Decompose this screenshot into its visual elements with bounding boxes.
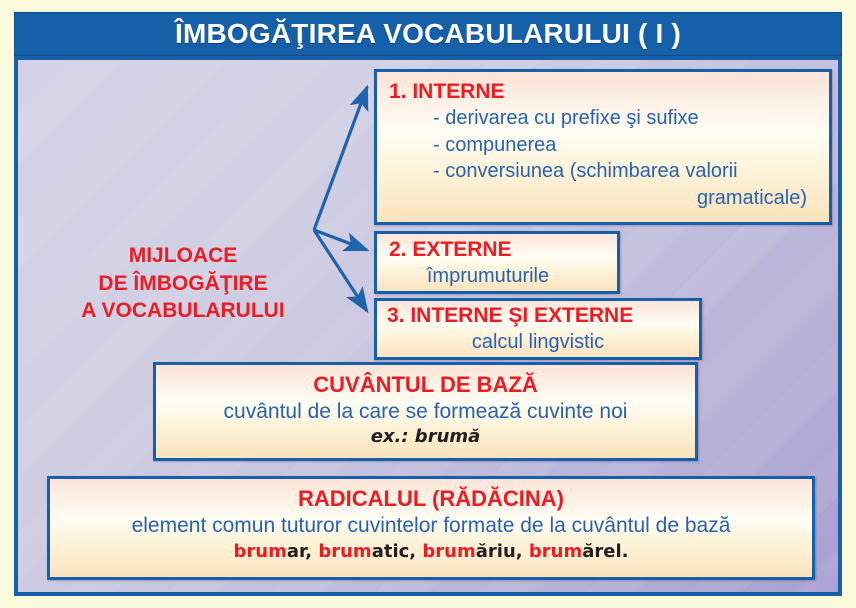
box-externe-heading: 2. EXTERNE xyxy=(389,237,605,264)
mijloace-label-line-2: DE ÎMBOGĂŢIRE xyxy=(38,270,328,298)
mijloace-label: MIJLOACE DE ÎMBOGĂŢIRE A VOCABULARULUI xyxy=(38,242,328,325)
derivative-suffix: ărel. xyxy=(582,541,628,562)
box-cuvantul-de-baza: CUVÂNTUL DE BAZĂ cuvântul de la care se … xyxy=(153,362,698,461)
derivative-root: brum xyxy=(318,541,371,562)
box-interne-line-2: - compunerea xyxy=(389,132,817,159)
box-externe-line-1: împrumuturile xyxy=(389,264,605,290)
box-interne-si-externe: 3. INTERNE ŞI EXTERNE calcul lingvistic xyxy=(374,298,702,360)
box-cuvantul-de-baza-example: ex.: brumă xyxy=(166,425,685,449)
box-radicalul: RADICALUL (RĂDĂCINA) element comun tutur… xyxy=(47,476,815,580)
derivative-suffix: ar, xyxy=(287,541,318,562)
box-interne-si-externe-heading: 3. INTERNE ŞI EXTERNE xyxy=(387,303,689,330)
derivative-suffix: atic, xyxy=(372,541,423,562)
box-cuvantul-de-baza-heading: CUVÂNTUL DE BAZĂ xyxy=(166,371,685,399)
derivative-root: brum xyxy=(422,541,475,562)
arrow-to-interne xyxy=(314,87,367,230)
diagram-panel: MIJLOACE DE ÎMBOGĂŢIRE A VOCABULARULUI 1… xyxy=(14,56,842,596)
box-interne-line-4: gramaticale) xyxy=(389,185,817,212)
box-interne: 1. INTERNE - derivarea cu prefixe şi suf… xyxy=(374,69,832,225)
box-cuvantul-de-baza-line-1: cuvântul de la care se formează cuvinte … xyxy=(166,399,685,425)
derivative-root: brum xyxy=(234,541,287,562)
mijloace-label-line-3: A VOCABULARULUI xyxy=(38,297,328,325)
box-interne-si-externe-line-1: calcul lingvistic xyxy=(387,330,689,356)
box-radicalul-line-1: element comun tuturor cuvintelor formate… xyxy=(60,513,802,539)
box-interne-heading: 1. INTERNE xyxy=(389,78,817,105)
poster-root: ÎMBOGĂŢIREA VOCABULARULUI ( I ) MIJLOACE… xyxy=(0,0,856,608)
poster-title-bar: ÎMBOGĂŢIREA VOCABULARULUI ( I ) xyxy=(14,12,842,56)
box-interne-line-1: - derivarea cu prefixe şi sufixe xyxy=(389,105,817,132)
box-externe: 2. EXTERNE împrumuturile xyxy=(374,231,620,294)
box-radicalul-heading: RADICALUL (RĂDĂCINA) xyxy=(60,485,802,513)
page-title: ÎMBOGĂŢIREA VOCABULARULUI ( I ) xyxy=(175,18,681,50)
mijloace-label-line-1: MIJLOACE xyxy=(38,242,328,270)
derivative-suffix: ăriu, xyxy=(476,541,529,562)
derivative-root: brum xyxy=(529,541,582,562)
box-interne-line-3: - conversiunea (schimbarea valorii xyxy=(389,158,817,185)
box-radicalul-derivatives: brumar, brumatic, brumăriu, brumărel. xyxy=(60,539,802,564)
